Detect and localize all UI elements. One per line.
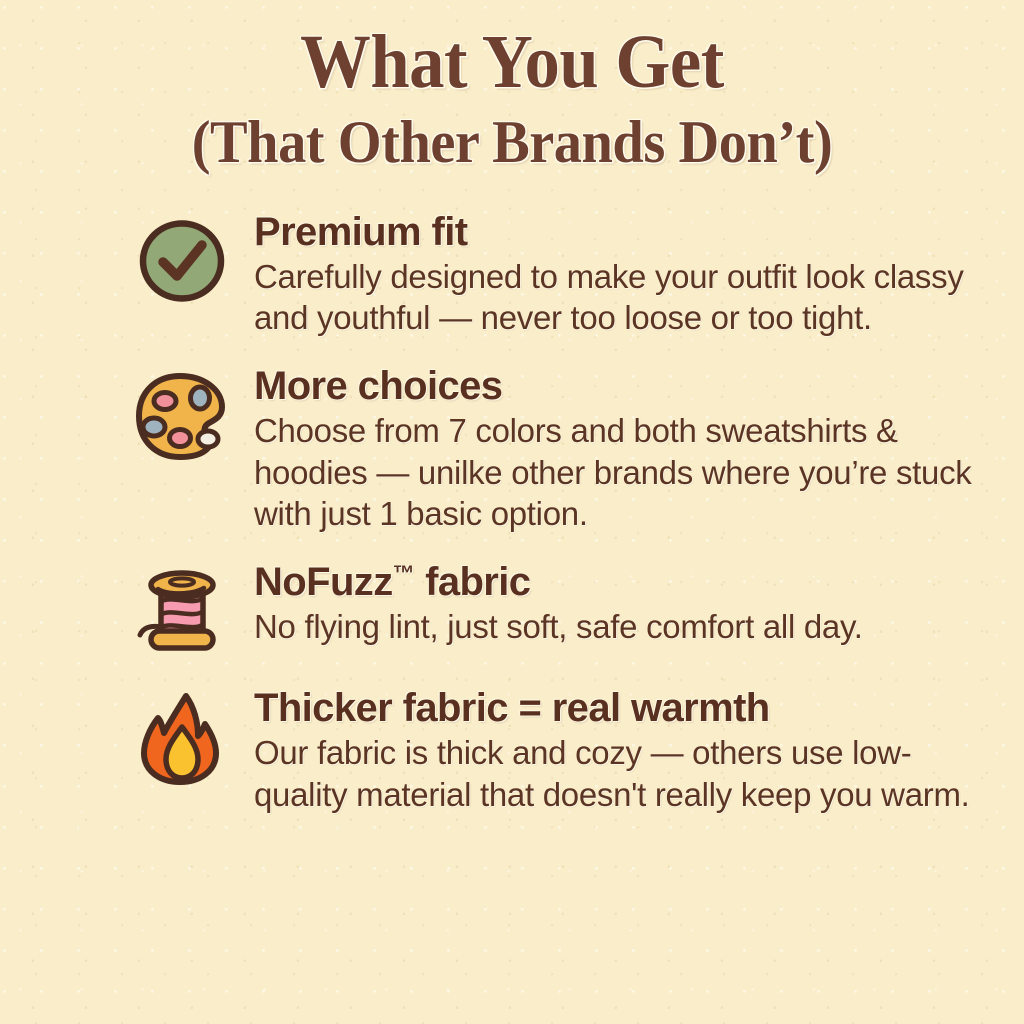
green-check-circle-icon <box>134 211 230 307</box>
feature-body: Carefully designed to make your outfit l… <box>254 256 984 339</box>
paint-palette-icon <box>134 365 230 461</box>
trademark-symbol: ™ <box>393 561 415 586</box>
feature-title-suffix: fabric <box>415 560 531 604</box>
title-block: What You Get (That Other Brands Don’t) <box>0 0 1024 173</box>
feature-title: NoFuzz™ fabric <box>254 561 984 604</box>
feature-body: Choose from 7 colors and both sweatshirt… <box>254 410 984 535</box>
feature-text-premium-fit: Premium fit Carefully designed to make y… <box>230 211 984 339</box>
feature-title: Premium fit <box>254 211 984 254</box>
page-title: What You Get <box>36 24 988 102</box>
infographic-page: What You Get (That Other Brands Don’t) P… <box>0 0 1024 1024</box>
feature-text-more-choices: More choices Choose from 7 colors and bo… <box>230 365 984 535</box>
feature-text-thicker-fabric: Thicker fabric = real warmth Our fabric … <box>230 687 984 815</box>
feature-text-nofuzz-fabric: NoFuzz™ fabric No flying lint, just soft… <box>230 561 984 648</box>
feature-body: No flying lint, just soft, safe comfort … <box>254 606 984 648</box>
feature-title-prefix: NoFuzz <box>254 560 393 604</box>
page-subtitle: (That Other Brands Don’t) <box>31 112 994 173</box>
feature-item-premium-fit: Premium fit Carefully designed to make y… <box>134 211 984 339</box>
feature-body: Our fabric is thick and cozy — others us… <box>254 732 984 815</box>
feature-item-more-choices: More choices Choose from 7 colors and bo… <box>134 365 984 535</box>
feature-title: More choices <box>254 365 984 408</box>
feature-item-nofuzz-fabric: NoFuzz™ fabric No flying lint, just soft… <box>134 561 984 657</box>
flame-icon <box>134 687 230 783</box>
thread-spool-icon <box>134 561 230 657</box>
feature-title: Thicker fabric = real warmth <box>254 687 984 730</box>
feature-item-thicker-fabric: Thicker fabric = real warmth Our fabric … <box>134 687 984 815</box>
feature-list: Premium fit Carefully designed to make y… <box>0 211 1024 816</box>
